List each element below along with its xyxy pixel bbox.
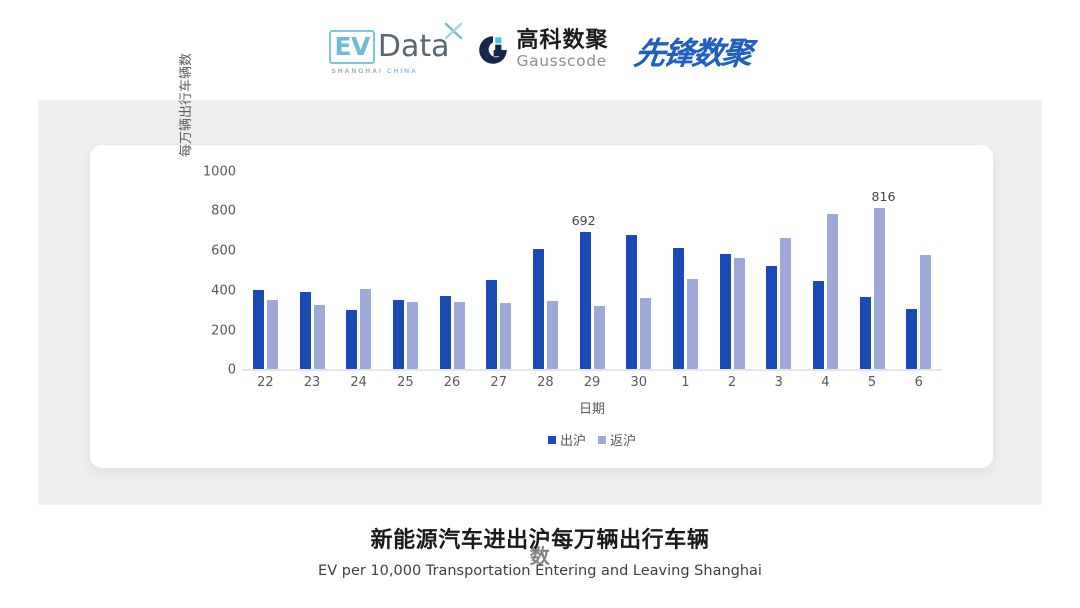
evdata-tagline-country: CHINA [387,68,418,75]
x-axis-tick-label: 28 [522,375,569,393]
bar-fan-hu [780,238,791,369]
bar-group [289,171,336,369]
evdata-tagline: SHANGHAI CHINA [331,68,417,75]
bar-chu-hu [766,266,777,369]
y-axis-tick-label: 0 [198,363,236,378]
gausscode-cn-name: 高科数聚 [517,30,609,52]
gausscode-g-icon [476,33,510,67]
y-axis-tick-label: 400 [198,283,236,298]
bar-group: 816 [849,171,896,369]
bar-fan-hu [594,306,605,369]
bar-groups: 692816 [242,171,942,369]
bar-chu-hu [626,235,637,370]
bar-fan-hu [500,303,511,369]
bar-group [662,171,709,369]
bar-chu-hu [346,310,357,369]
bar-fan-hu [874,208,885,370]
x-axis-baseline [242,369,942,371]
legend-label: 出沪 [560,430,586,449]
x-axis-tick-label: 27 [475,375,522,393]
bar-fan-hu [547,301,558,369]
y-axis-tick-label: 200 [198,323,236,338]
legend-item-chu-hu[interactable]: 出沪 [548,430,586,449]
bar-chu-hu [440,296,451,369]
legend-swatch-icon [598,436,606,444]
caption-title-cn: 新能源汽车进出沪每万辆出行车辆 数 [0,528,1080,554]
y-axis-title: 每万辆出行车辆数 [175,30,193,180]
bar-group [382,171,429,369]
x-axis-tick-label: 25 [382,375,429,393]
evdata-logo: EV Data SHANGHAI CHINA [329,26,449,75]
evdata-tagline-city: SHANGHAI [331,68,382,75]
x-axis-tick-label: 1 [662,375,709,393]
bar-fan-hu [267,300,278,369]
evdata-word: Data [378,32,450,62]
bar-chu-hu [300,292,311,369]
bar-chu-hu [860,297,871,369]
bar-group [522,171,569,369]
caption-title-en: EV per 10,000 Transportation Entering an… [0,563,1080,579]
bar-chu-hu [720,254,731,369]
x-axis-tick-label: 24 [335,375,382,393]
x-axis-ticks: 222324252627282930123456 [242,375,942,393]
chart-legend: 出沪返沪 [242,430,942,449]
bar-chu-hu [906,309,917,370]
bar-fan-hu [640,298,651,369]
legend-swatch-icon [548,436,556,444]
bar-group [709,171,756,369]
x-axis-tick-label: 2 [709,375,756,393]
legend-label: 返沪 [610,430,636,449]
gausscode-wordmark: 高科数聚 Gausscode [517,30,609,70]
x-axis-tick-label: 23 [289,375,336,393]
x-axis-tick-label: 29 [569,375,616,393]
bar-fan-hu [407,302,418,369]
x-axis-tick-label: 4 [802,375,849,393]
bar-group [755,171,802,369]
evdata-ev-mark: EV [329,30,374,64]
bar-group [475,171,522,369]
bar-fan-hu [314,305,325,369]
bar-group: 692 [569,171,616,369]
bar-fan-hu [734,258,745,369]
bar-chu-hu [673,248,684,370]
bar-group [615,171,662,369]
bar-fan-hu [360,289,371,369]
plot-area: 692816 [242,171,942,371]
bar-fan-hu [454,302,465,369]
caption: 新能源汽车进出沪每万辆出行车辆 数 EV per 10,000 Transpor… [0,528,1080,579]
x-axis-tick-label: 3 [755,375,802,393]
y-axis-tick-label: 800 [198,204,236,219]
bar-group [429,171,476,369]
bar-chu-hu [813,281,824,369]
bar-chu-hu [253,290,264,370]
y-axis-ticks: 10008006004002000 [198,171,236,371]
bar-value-label: 816 [872,189,896,204]
evdata-logo-row: EV Data [329,30,449,64]
bar-group [242,171,289,369]
bar-chu-hu [486,280,497,370]
logo-bar: EV Data SHANGHAI CHINA 高科数聚 Gausscode [0,0,1080,100]
x-axis-title: 日期 [242,398,942,417]
bar-chu-hu [393,300,404,369]
x-axis-tick-label: 26 [429,375,476,393]
xianfeng-logo: 先锋数聚 [631,28,753,73]
bar-group [895,171,942,369]
caption-title-cn-text: 新能源汽车进出沪每万辆出行车辆 [370,528,709,553]
x-axis-tick-label: 5 [849,375,896,393]
y-axis-tick-label: 1000 [198,164,236,179]
bar-group [802,171,849,369]
bar-fan-hu [827,214,838,369]
bar-group [335,171,382,369]
bar-chu-hu [533,249,544,370]
bar-chu-hu [580,232,591,369]
legend-item-fan-hu[interactable]: 返沪 [598,430,636,449]
x-axis-tick-label: 22 [242,375,289,393]
gausscode-en-name: Gausscode [517,54,609,70]
chart-card: 每万辆出行车辆数 10008006004002000 692816 222324… [90,145,993,468]
y-axis-tick-label: 600 [198,244,236,259]
bar-fan-hu [687,279,698,369]
x-axis-tick-label: 6 [895,375,942,393]
bar-fan-hu [920,255,931,370]
gausscode-logo: 高科数聚 Gausscode [476,30,609,70]
x-axis-tick-label: 30 [615,375,662,393]
bar-value-label: 692 [572,213,596,228]
bar-chart: 每万辆出行车辆数 10008006004002000 692816 222324… [90,145,993,468]
x-mark-icon [444,21,464,41]
